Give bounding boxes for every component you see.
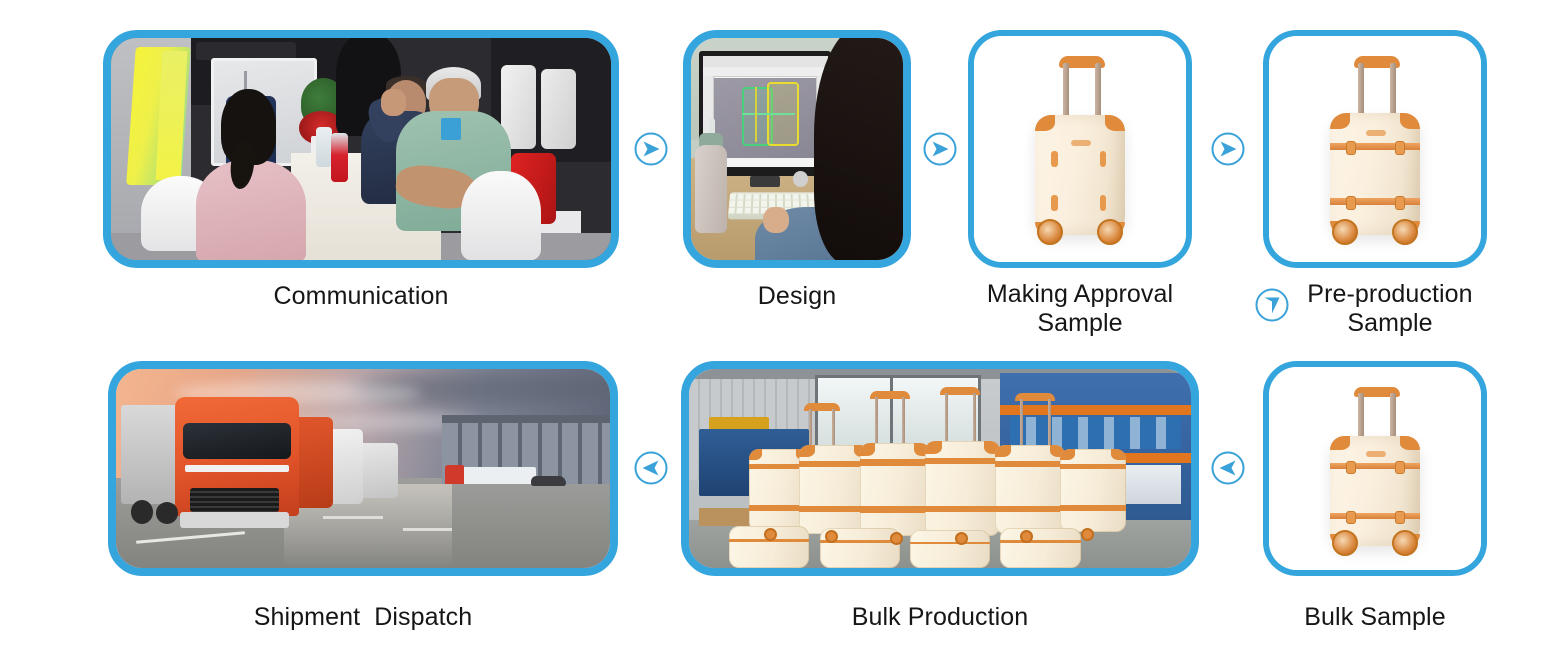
cad-design-workstation-photo	[691, 38, 903, 260]
step-card-making-approval-sample[interactable]	[968, 30, 1192, 268]
step-label-bulk-production: Bulk Production	[681, 603, 1199, 632]
step-card-bulk-sample[interactable]	[1263, 361, 1487, 576]
trucks-warehouse-dock-photo	[116, 369, 610, 568]
connector-arrow-right-making-approval-to-pre-production[interactable]	[1209, 130, 1247, 168]
step-card-pre-production-sample[interactable]	[1263, 30, 1487, 268]
suitcase-front-view-product-image	[1269, 367, 1481, 570]
connector-arrow-down-pre-production-to-bulk-sample[interactable]	[1253, 286, 1291, 324]
step-card-bulk-production[interactable]	[681, 361, 1199, 576]
step-card-design[interactable]	[683, 30, 911, 268]
step-card-communication[interactable]	[103, 30, 619, 268]
step-label-pre-production-sample: Pre-production Sample	[1290, 280, 1490, 338]
step-label-bulk-sample: Bulk Sample	[1263, 603, 1487, 632]
trade-show-meeting-photo	[111, 38, 611, 260]
connector-arrow-left-bulk-production-to-shipment[interactable]	[632, 449, 670, 487]
step-label-making-approval-sample: Making Approval Sample	[968, 280, 1192, 338]
workflow-diagram: Communication	[0, 0, 1551, 664]
arrow-left-circle-icon	[1209, 449, 1247, 487]
suitcase-back-view-product-image	[974, 36, 1186, 262]
arrow-down-circle-icon	[1253, 286, 1291, 324]
connector-arrow-left-bulk-sample-to-bulk-production[interactable]	[1209, 449, 1247, 487]
step-label-communication: Communication	[103, 282, 619, 311]
connector-arrow-right-communication-to-design[interactable]	[632, 130, 670, 168]
step-label-shipment-dispatch: Shipment Dispatch	[108, 603, 618, 632]
suitcase-front-view-product-image	[1269, 36, 1481, 262]
arrow-right-circle-icon	[1209, 130, 1247, 168]
step-card-shipment-dispatch[interactable]	[108, 361, 618, 576]
step-label-design: Design	[683, 282, 911, 311]
arrow-left-circle-icon	[632, 449, 670, 487]
arrow-right-circle-icon	[632, 130, 670, 168]
arrow-right-circle-icon	[921, 130, 959, 168]
factory-bulk-suitcases-photo	[689, 369, 1191, 568]
connector-arrow-right-design-to-making-approval-sample[interactable]	[921, 130, 959, 168]
